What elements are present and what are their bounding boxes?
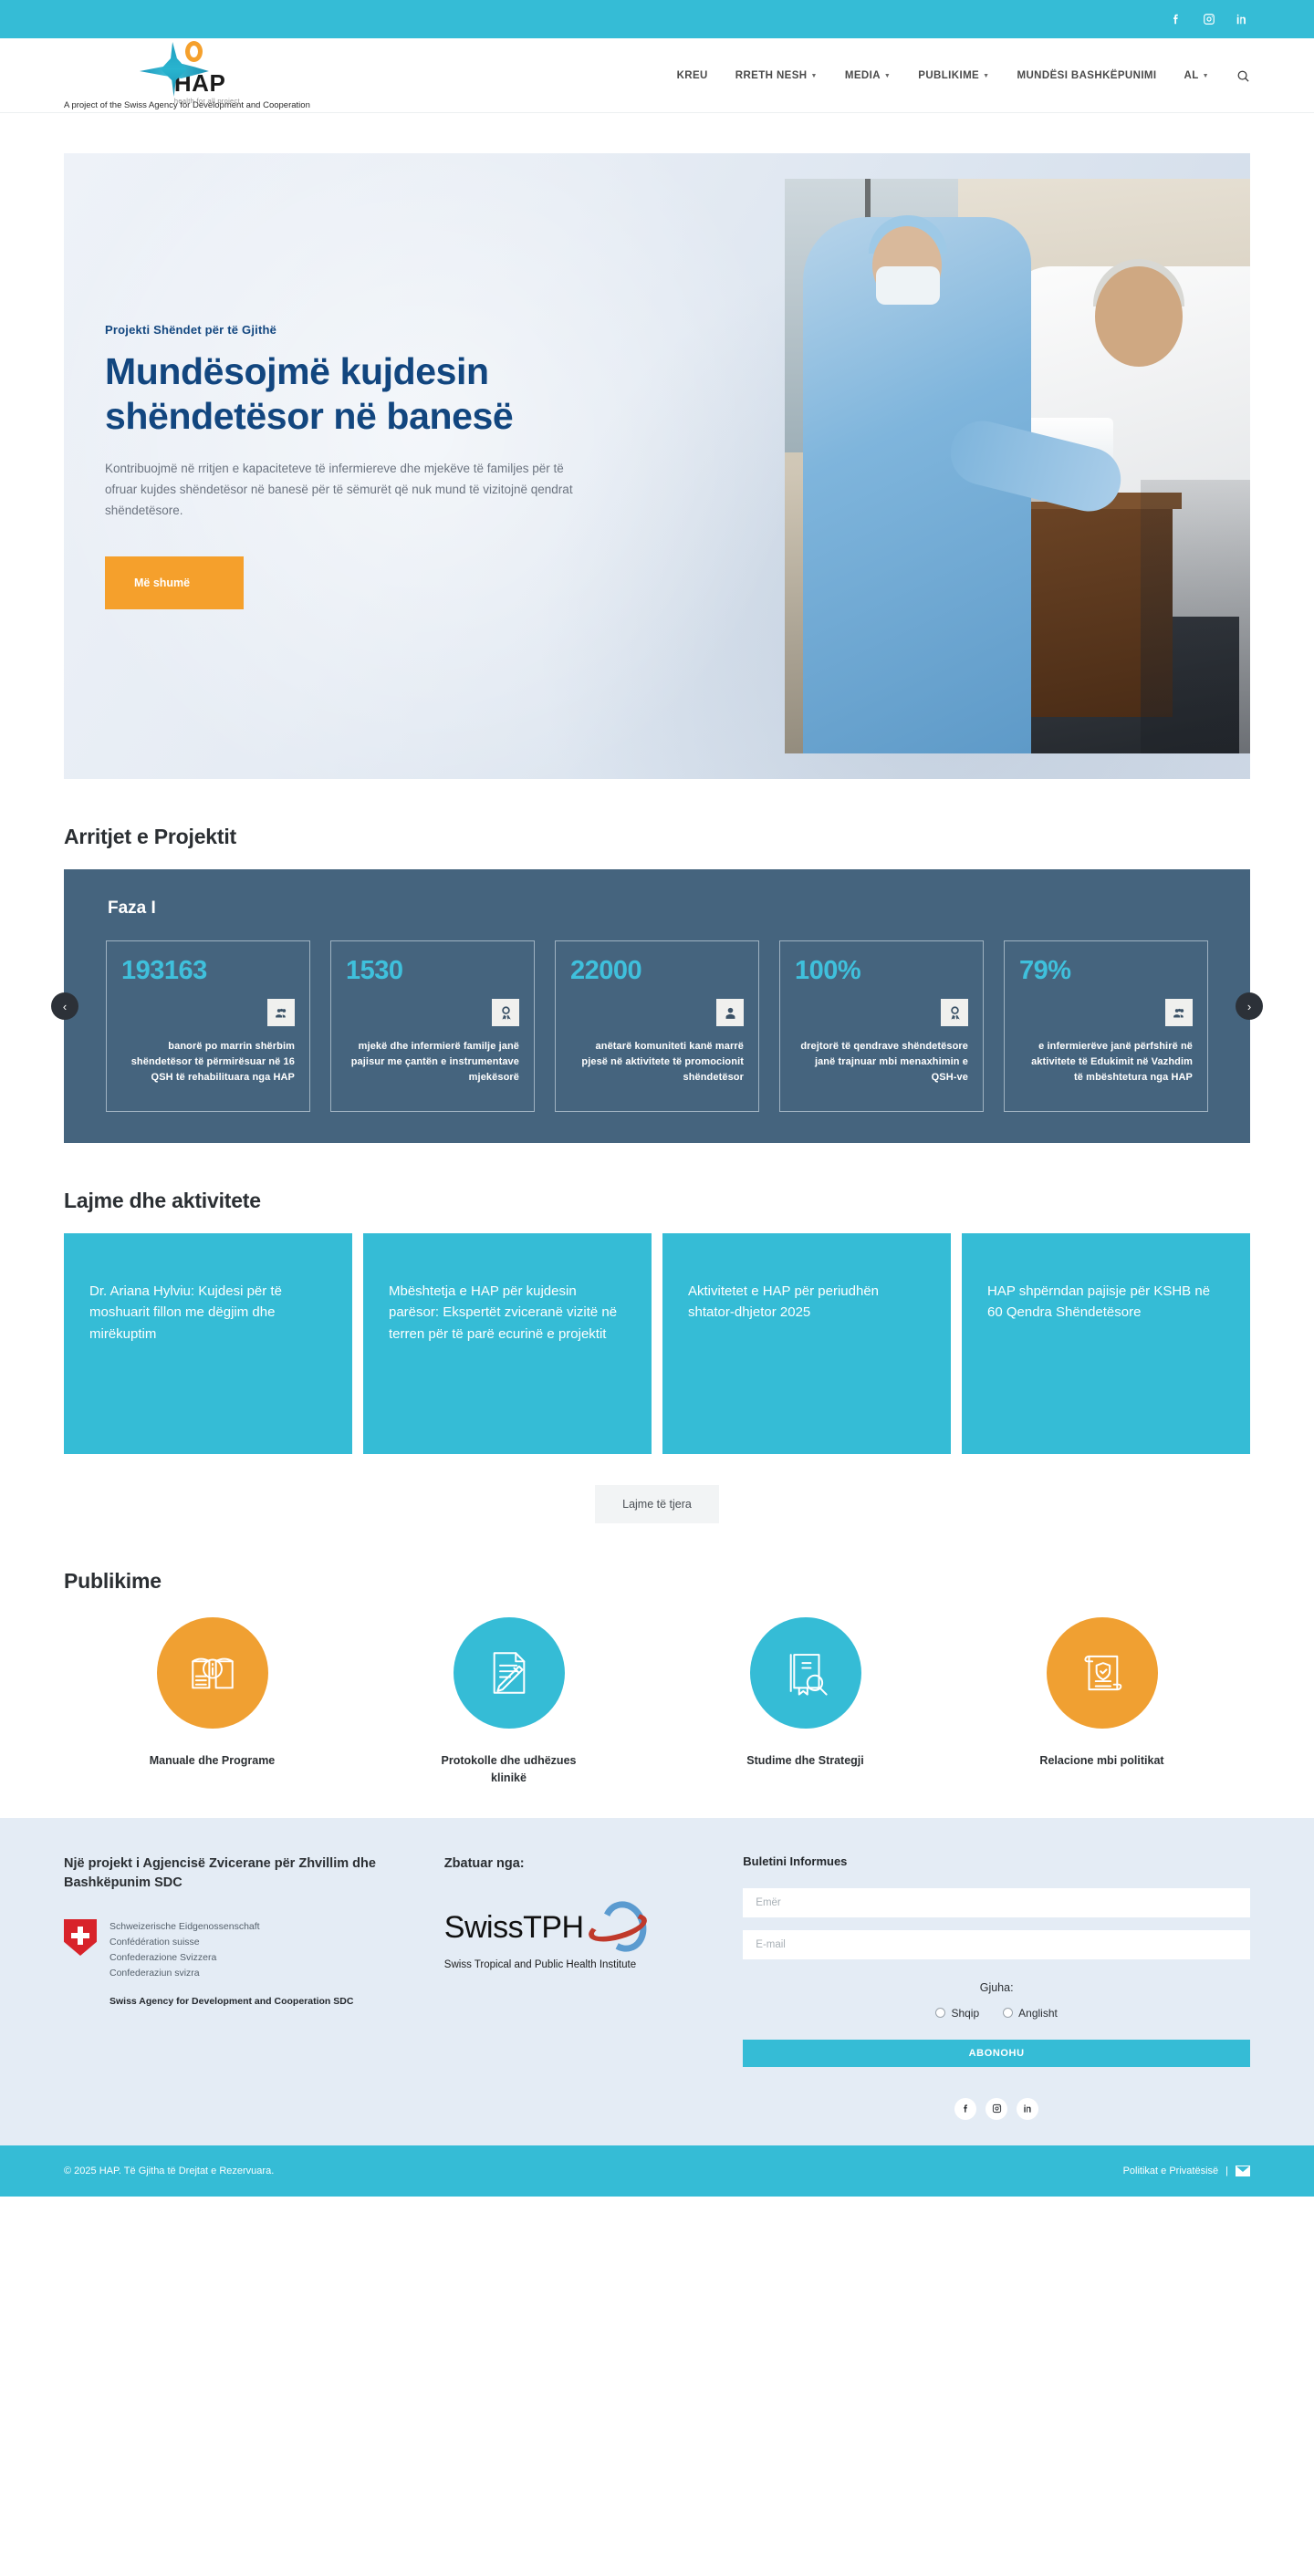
- nav-item-media[interactable]: MEDIA ▼: [845, 70, 891, 81]
- site-header: HAP health for all project A project of …: [0, 38, 1314, 113]
- nav-label: KREU: [677, 70, 708, 81]
- separator: |: [1225, 2166, 1228, 2176]
- brand-tagline: A project of the Swiss Agency for Develo…: [64, 100, 310, 110]
- nav-item-mundesi-bashkepunimi[interactable]: MUNDËSI BASHKËPUNIMI: [1017, 70, 1156, 81]
- publication-item[interactable]: Studime dhe Strategji: [657, 1617, 954, 1787]
- linkedin-icon[interactable]: [1234, 11, 1250, 27]
- nav-label: MEDIA: [845, 70, 881, 81]
- nav-label: MUNDËSI BASHKËPUNIMI: [1017, 70, 1156, 81]
- language-option-label: Shqip: [951, 2007, 979, 2020]
- award-ribbon-icon: [492, 999, 519, 1026]
- document-pencil-icon: [454, 1617, 565, 1729]
- newsletter-name-input[interactable]: [743, 1888, 1250, 1917]
- publication-label: Protokolle dhe udhëzues klinikë: [422, 1752, 596, 1787]
- swiss-line-fr: Confédération suisse: [109, 1935, 353, 1950]
- stat-card[interactable]: 22000 anëtarë komuniteti kanë marrë pjes…: [555, 940, 759, 1112]
- nav-label: PUBLIKIME: [918, 70, 979, 81]
- news-card[interactable]: Aktivitetet e HAP për periudhën shtator-…: [662, 1233, 951, 1454]
- more-news-button[interactable]: Lajme të tjera: [595, 1485, 719, 1523]
- stat-card[interactable]: 79% e infermierëve janë përfshirë në akt…: [1004, 940, 1208, 1112]
- stat-card[interactable]: 1530 mjekë dhe infermierë familje janë p…: [330, 940, 535, 1112]
- news-title: Lajme dhe aktivitete: [64, 1189, 1250, 1213]
- news-card-title: HAP shpërndan pajisje për KSHB në 60 Qen…: [987, 1281, 1225, 1324]
- group-people-icon: [1165, 999, 1193, 1026]
- achievements-panel: Faza I ‹ › 193163 banorë po marrin shërb…: [64, 869, 1250, 1143]
- nav-item-language[interactable]: AL ▼: [1184, 70, 1209, 81]
- news-card[interactable]: HAP shpërndan pajisje për KSHB në 60 Qen…: [962, 1233, 1250, 1454]
- achievements-section: Arritjet e Projektit Faza I ‹ › 193163 b…: [64, 825, 1250, 1143]
- copyright-text: © 2025 HAP. Të Gjitha të Drejtat e Rezer…: [64, 2166, 274, 2176]
- publication-label: Studime dhe Strategji: [746, 1752, 864, 1770]
- swiss-agency-name: Swiss Agency for Development and Coopera…: [109, 1994, 353, 2009]
- radio-icon[interactable]: [935, 2008, 945, 2018]
- stat-number: 100%: [795, 958, 968, 984]
- swiss-line-it: Confederazione Svizzera: [109, 1950, 353, 1966]
- stat-label: drejtorë të qendrave shëndetësore janë t…: [795, 1039, 968, 1085]
- chevron-down-icon: ▼: [884, 73, 891, 79]
- newsletter-subscribe-button[interactable]: ABONOHU: [743, 2040, 1250, 2067]
- news-card-title: Mbështetja e HAP për kujdesin parësor: E…: [389, 1281, 626, 1345]
- stat-number: 22000: [570, 958, 744, 984]
- footer-sdc-column: Një projekt i Agjencisë Zvicerane për Zh…: [64, 1854, 444, 2120]
- nav-item-publikime[interactable]: PUBLIKIME ▼: [918, 70, 989, 81]
- top-social-bar: [0, 0, 1314, 38]
- publication-label: Manuale dhe Programe: [150, 1752, 276, 1770]
- stat-card[interactable]: 100% drejtorë të qendrave shëndetësore j…: [779, 940, 984, 1112]
- news-card[interactable]: Mbështetja e HAP për kujdesin parësor: E…: [363, 1233, 652, 1454]
- search-icon[interactable]: [1236, 69, 1250, 83]
- hero-photo: [785, 179, 1250, 753]
- publication-item[interactable]: Protokolle dhe udhëzues klinikë: [360, 1617, 657, 1787]
- chevron-down-icon: ▼: [811, 73, 818, 79]
- radio-icon[interactable]: [1003, 2008, 1013, 2018]
- footer-implementer-column: Zbatuar nga: SwissTPH Swiss Tropical and…: [444, 1854, 743, 2120]
- copyright-bar: © 2025 HAP. Të Gjitha të Drejtat e Rezer…: [0, 2145, 1314, 2197]
- news-card-title: Aktivitetet e HAP për periudhën shtator-…: [688, 1281, 925, 1324]
- nav-label: AL: [1184, 70, 1199, 81]
- linkedin-icon[interactable]: [1017, 2098, 1038, 2120]
- nav-item-kreu[interactable]: KREU: [677, 70, 708, 81]
- news-section: Lajme dhe aktivitete Dr. Ariana Hylviu: …: [64, 1189, 1250, 1523]
- language-label: Gjuha:: [743, 1981, 1250, 1994]
- hero-section: Projekti Shëndet për të Gjithë Mundësojm…: [0, 113, 1314, 779]
- achievements-title: Arritjet e Projektit: [64, 825, 1250, 849]
- news-card[interactable]: Dr. Ariana Hylviu: Kujdesi për të moshua…: [64, 1233, 352, 1454]
- stat-number: 1530: [346, 958, 519, 984]
- main-navigation: KREU RRETH NESH ▼ MEDIA ▼ PUBLIKIME ▼ MU…: [677, 38, 1250, 113]
- swiss-cross-icon: [64, 1919, 97, 1956]
- newsletter-email-input[interactable]: [743, 1930, 1250, 1959]
- brand-logo[interactable]: HAP health for all project A project of …: [64, 40, 310, 110]
- nav-item-rreth-nesh[interactable]: RRETH NESH ▼: [735, 70, 818, 81]
- footer-sdc-heading: Një projekt i Agjencisë Zvicerane për Zh…: [64, 1854, 444, 1895]
- stat-label: banorë po marrin shërbim shëndetësor të …: [121, 1039, 295, 1085]
- news-card-title: Dr. Ariana Hylviu: Kujdesi për të moshua…: [89, 1281, 327, 1345]
- language-option-label: Anglisht: [1018, 2007, 1058, 2020]
- tph-subtitle: Swiss Tropical and Public Health Institu…: [444, 1959, 743, 1970]
- instagram-icon[interactable]: [1201, 11, 1217, 27]
- chevron-down-icon: ▼: [983, 73, 989, 79]
- stat-number: 193163: [121, 958, 295, 984]
- swiss-line-rm: Confederaziun svizra: [109, 1966, 353, 1981]
- nav-label: RRETH NESH: [735, 70, 808, 81]
- carousel-next-button[interactable]: ›: [1236, 992, 1263, 1020]
- hero-kicker: Projekti Shëndet për të Gjithë: [105, 323, 648, 337]
- stat-label: mjekë dhe infermierë familje janë pajisu…: [346, 1039, 519, 1085]
- group-people-icon: [267, 999, 295, 1026]
- scroll-shield-icon: [1047, 1617, 1158, 1729]
- book-search-icon: [750, 1617, 861, 1729]
- hero-description: Kontribuojmë në rritjen e kapaciteteve t…: [105, 458, 598, 522]
- hap-logo-mark: [134, 40, 220, 97]
- instagram-icon[interactable]: [985, 2098, 1007, 2120]
- facebook-icon[interactable]: [954, 2098, 976, 2120]
- footer-newsletter-column: Buletini Informues Gjuha: Shqip Anglisht…: [743, 1854, 1250, 2120]
- open-book-info-icon: [157, 1617, 268, 1729]
- language-option-shqip[interactable]: Shqip: [935, 2007, 979, 2020]
- publications-section: Publikime Manuale dhe Programe: [64, 1569, 1250, 1818]
- newsletter-heading: Buletini Informues: [743, 1854, 1250, 1868]
- tph-word-bold: TPH: [523, 1910, 584, 1945]
- stat-label: anëtarë komuniteti kanë marrë pjesë në a…: [570, 1039, 744, 1085]
- stat-label: e infermierëve janë përfshirë në aktivit…: [1019, 1039, 1193, 1085]
- site-footer: Një projekt i Agjencisë Zvicerane për Zh…: [0, 1818, 1314, 2145]
- hero-cta-button[interactable]: Më shumë: [105, 556, 244, 609]
- language-option-anglisht[interactable]: Anglisht: [1003, 2007, 1058, 2020]
- stat-number: 79%: [1019, 958, 1193, 984]
- publication-item[interactable]: Manuale dhe Programe: [64, 1617, 360, 1787]
- phase-label: Faza I: [108, 898, 1217, 919]
- tph-globe-icon: [588, 1899, 653, 1956]
- hero-title: Mundësojmë kujdesin shëndetësor në banes…: [105, 349, 648, 438]
- chevron-down-icon: ▼: [1203, 73, 1209, 79]
- swiss-tph-logo: SwissTPH Swiss Tropical and Public Healt…: [444, 1899, 743, 1970]
- mail-icon[interactable]: [1236, 2166, 1250, 2176]
- hero-banner: Projekti Shëndet për të Gjithë Mundësojm…: [64, 153, 1250, 779]
- implemented-by-heading: Zbatuar nga:: [444, 1854, 743, 1875]
- stat-card[interactable]: 193163 banorë po marrin shërbim shëndetë…: [106, 940, 310, 1112]
- privacy-policy-link[interactable]: Politikat e Privatësisë: [1123, 2166, 1219, 2176]
- award-ribbon-icon: [941, 999, 968, 1026]
- publication-item[interactable]: Relacione mbi politikat: [954, 1617, 1250, 1787]
- swiss-line-de: Schweizerische Eidgenossenschaft: [109, 1919, 353, 1935]
- carousel-prev-button[interactable]: ‹: [51, 992, 78, 1020]
- publications-title: Publikime: [64, 1569, 1250, 1594]
- tph-word-light: Swiss: [444, 1910, 523, 1945]
- facebook-icon[interactable]: [1168, 11, 1184, 27]
- single-person-icon: [716, 999, 744, 1026]
- publication-label: Relacione mbi politikat: [1039, 1752, 1163, 1770]
